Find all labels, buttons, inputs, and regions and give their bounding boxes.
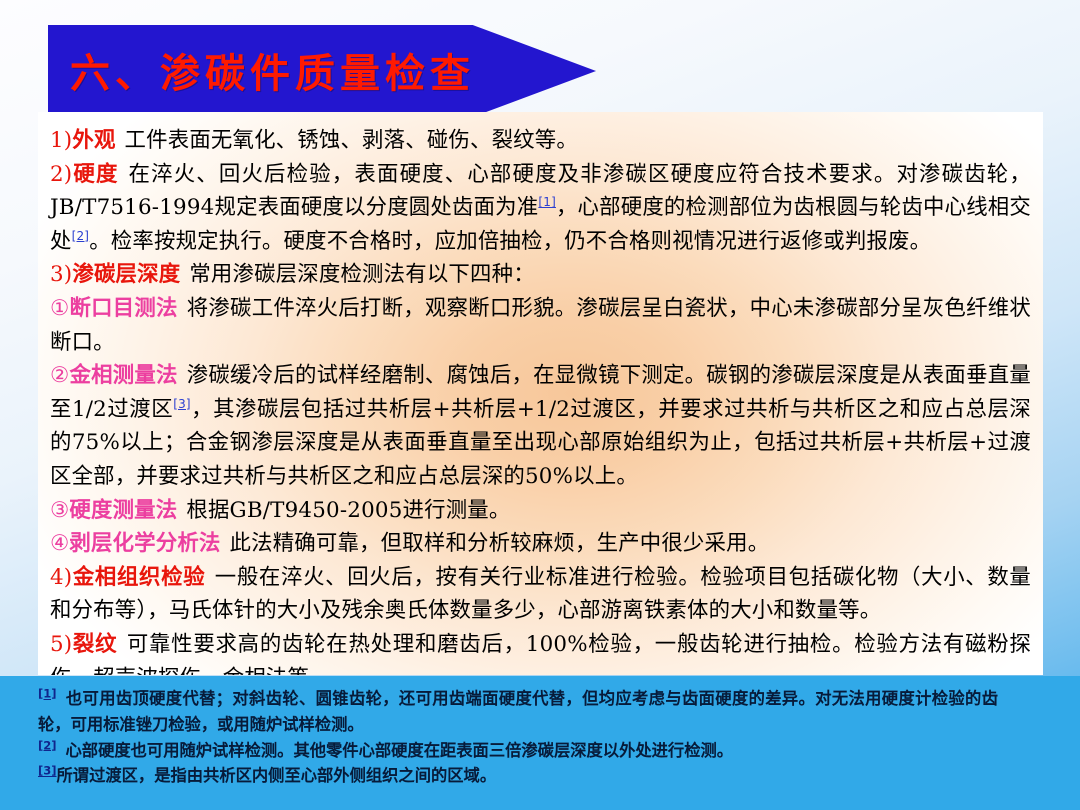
- footnote-1: [1]也可用齿顶硬度代替；对斜齿轮、圆锥齿轮，还可用齿端面硬度代替，但均应考虑与…: [38, 686, 998, 738]
- sub-item-text: 将渗碳工件淬火后打断，观察断口形貌。渗碳层呈白瓷状，中心未渗碳部分呈灰色纤维状断…: [50, 296, 1031, 355]
- list-item-5: 5)裂纹可靠性要求高的齿轮在热处理和磨齿后，100%检验，一般齿轮进行抽检。检验…: [50, 628, 1031, 675]
- sub-item-3: ③硬度测量法根据GB/T9450-2005进行测量。: [50, 494, 1031, 528]
- sub-item-label: 金相测量法: [69, 363, 177, 388]
- footnote-3: [3]所谓过渡区，是指由共析区内侧至心部外侧组织之间的区域。: [38, 763, 998, 789]
- list-item-1: 1)外观工件表面无氧化、锈蚀、剥落、碰伤、裂纹等。: [50, 124, 1031, 158]
- sub-item-label: 断口目测法: [69, 296, 177, 321]
- item-label: 硬度: [72, 162, 118, 187]
- sub-item-marker: ②: [50, 363, 69, 388]
- item-label: 金相组织检验: [72, 565, 205, 590]
- list-item-4: 4)金相组织检验一般在淬火、回火后，按有关行业标准进行检验。检验项目包括碳化物（…: [50, 561, 1031, 628]
- footnote-ref-3[interactable]: [3]: [173, 397, 191, 411]
- sub-item-label: 硬度测量法: [69, 498, 177, 523]
- footnote-text: 所谓过渡区，是指由共析区内侧至心部外侧组织之间的区域。: [57, 766, 497, 785]
- sub-item-text: ，其渗碳层包括过共析层+共析层+1/2过渡区，并要求过共析与共析区之和应占总层深…: [50, 397, 1031, 489]
- footnote-ref-2[interactable]: [2]: [72, 229, 90, 243]
- footnote-2: [2]心部硬度也可用随炉试样检测。其他零件心部硬度在距表面三倍渗碳层深度以外处进…: [38, 738, 998, 764]
- footnote-marker: [3]: [38, 764, 57, 778]
- list-item-2: 2)硬度在淬火、回火后检验，表面硬度、心部硬度及非渗碳区硬度应符合技术要求。对渗…: [50, 158, 1031, 259]
- item-label: 外观: [72, 128, 115, 153]
- body-text: 1)外观工件表面无氧化、锈蚀、剥落、碰伤、裂纹等。 2)硬度在淬火、回火后检验，…: [50, 124, 1031, 675]
- footnote-marker: [1]: [38, 687, 57, 701]
- sub-item-4: ④剥层化学分析法此法精确可靠，但取样和分析较麻烦，生产中很少采用。: [50, 527, 1031, 561]
- footnotes-list: [1]也可用齿顶硬度代替；对斜齿轮、圆锥齿轮，还可用齿端面硬度代替，但均应考虑与…: [38, 686, 998, 789]
- sub-item-marker: ①: [50, 296, 69, 321]
- item-label: 渗碳层深度: [72, 262, 180, 287]
- content-panel: 1)外观工件表面无氧化、锈蚀、剥落、碰伤、裂纹等。 2)硬度在淬火、回火后检验，…: [38, 112, 1043, 675]
- sub-item-text: 根据GB/T9450-2005进行测量。: [186, 498, 510, 523]
- sub-item-marker: ④: [50, 531, 69, 556]
- list-item-3: 3)渗碳层深度常用渗碳层深度检测法有以下四种：: [50, 258, 1031, 292]
- item-marker: 1): [50, 128, 72, 153]
- item-marker: 4): [50, 565, 72, 590]
- item-text: 常用渗碳层深度检测法有以下四种：: [189, 262, 534, 287]
- sub-item-marker: ③: [50, 498, 69, 523]
- sub-item-1: ①断口目测法将渗碳工件淬火后打断，观察断口形貌。渗碳层呈白瓷状，中心未渗碳部分呈…: [50, 292, 1031, 359]
- sub-item-2: ②金相测量法渗碳缓冷后的试样经磨制、腐蚀后，在显微镜下测定。碳钢的渗碳层深度是从…: [50, 359, 1031, 493]
- footnote-ref-1[interactable]: [1]: [538, 195, 556, 209]
- sub-item-text: 此法精确可靠，但取样和分析较麻烦，生产中很少采用。: [230, 531, 770, 556]
- footnote-marker: [2]: [38, 738, 57, 752]
- item-marker: 3): [50, 262, 72, 287]
- page-title: 六、渗碳件质量检查: [70, 41, 475, 99]
- item-text: 工件表面无氧化、锈蚀、剥落、碰伤、裂纹等。: [125, 128, 578, 153]
- item-text: 可靠性要求高的齿轮在热处理和磨齿后，100%检验，一般齿轮进行抽检。检验方法有磁…: [50, 632, 1031, 675]
- item-marker: 5): [50, 632, 72, 657]
- footnote-text: 心部硬度也可用随炉试样检测。其他零件心部硬度在距表面三倍渗碳层深度以外处进行检测…: [66, 741, 734, 760]
- title-banner: 六、渗碳件质量检查: [48, 25, 596, 117]
- item-text: 。检率按规定执行。硬度不合格时，应加倍抽检，仍不合格则视情况进行返修或判报废。: [89, 229, 931, 254]
- item-marker: 2): [50, 162, 72, 187]
- item-label: 裂纹: [72, 632, 117, 657]
- footnote-band: [1]也可用齿顶硬度代替；对斜齿轮、圆锥齿轮，还可用齿端面硬度代替，但均应考虑与…: [0, 676, 1080, 810]
- footnote-text: 也可用齿顶硬度代替；对斜齿轮、圆锥齿轮，还可用齿端面硬度代替，但均应考虑与齿面硬…: [38, 689, 998, 734]
- slide-canvas: 六、渗碳件质量检查 1)外观工件表面无氧化、锈蚀、剥落、碰伤、裂纹等。 2)硬度…: [0, 0, 1080, 810]
- sub-item-label: 剥层化学分析法: [69, 531, 220, 556]
